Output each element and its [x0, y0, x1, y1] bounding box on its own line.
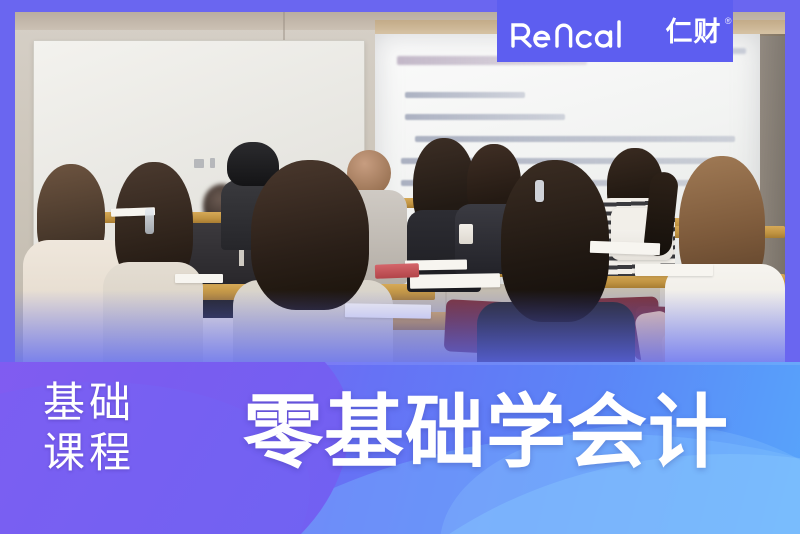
slide-text-line: [405, 92, 525, 98]
classroom-photo: [15, 12, 785, 380]
red-notebook: [375, 263, 419, 279]
paper-sheet: [345, 303, 431, 318]
brand-chinese-name: 仁财®: [666, 19, 722, 46]
whiteboard-writing: [210, 158, 215, 168]
brand-logo-badge[interactable]: 仁财®: [497, 0, 733, 62]
course-promo-banner: 基础 课程 零基础学会计: [0, 0, 800, 534]
student-hair: [251, 160, 369, 310]
page-title: 零基础学会计: [243, 387, 729, 479]
course-category-label: 基础 课程: [28, 378, 150, 478]
brand-chinese-text: 仁财: [666, 17, 722, 47]
water-bottle: [145, 208, 154, 234]
paper-cup: [459, 224, 473, 244]
paper-sheet: [175, 274, 223, 283]
whiteboard-writing: [194, 159, 204, 168]
hair-clip: [535, 180, 544, 202]
slide-text-line: [405, 114, 565, 120]
paper-sheet: [410, 273, 500, 289]
rencal-wordmark-icon: [509, 15, 657, 49]
paper-sheet: [635, 264, 713, 276]
paper-sheet: [590, 241, 660, 255]
registered-trademark-icon: ®: [725, 17, 733, 26]
slide-text-line: [415, 136, 735, 142]
